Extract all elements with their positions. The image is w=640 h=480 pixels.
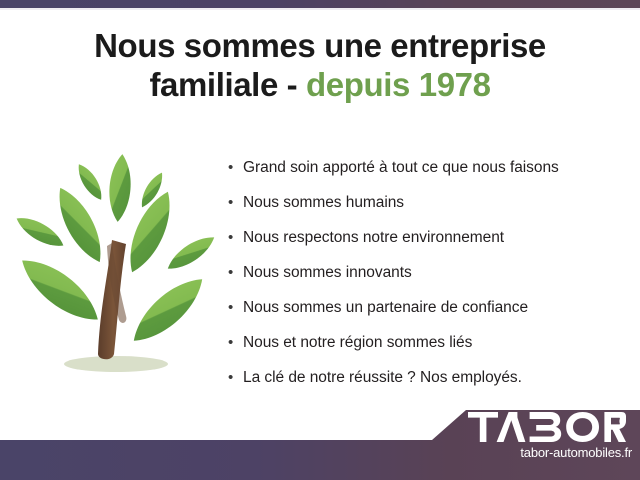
list-item: • Nous sommes innovants [228,255,628,290]
list-item-label: Grand soin apporté à tout ce que nous fa… [243,158,559,177]
list-item-label: La clé de notre réussite ? Nos employés. [243,368,522,387]
bullet-marker-icon: • [228,300,243,315]
value-bullet-list: • Grand soin apporté à tout ce que nous … [228,150,628,395]
headline-line-2-black: familiale - [149,66,306,103]
bullet-marker-icon: • [228,370,243,385]
list-item-label: Nous et notre région sommes liés [243,333,472,352]
bullet-marker-icon: • [228,265,243,280]
bullet-marker-icon: • [228,160,243,175]
brand-logo[interactable]: tabor-automobiles.fr [468,412,634,460]
bullet-marker-icon: • [228,230,243,245]
list-item: • Nous et notre région sommes liés [228,325,628,360]
page-title: Nous sommes une entreprisefamiliale - de… [0,26,640,104]
list-item: • La clé de notre réussite ? Nos employé… [228,360,628,395]
tree-shadow [64,356,168,372]
bullet-marker-icon: • [228,195,243,210]
headline-line-1: Nous sommes une entreprise [94,27,546,64]
top-accent-bar [0,0,640,8]
tabor-wordmark [468,412,626,442]
list-item-label: Nous sommes innovants [243,263,412,282]
stylized-tree-illustration [8,140,228,390]
headline-line-2-green: depuis 1978 [306,66,491,103]
slide-canvas: Nous sommes une entreprisefamiliale - de… [0,0,640,480]
headline-line-2: familiale - depuis 1978 [0,65,640,104]
list-item-label: Nous sommes un partenaire de confiance [243,298,528,317]
list-item: • Nous respectons notre environnement [228,220,628,255]
brand-url[interactable]: tabor-automobiles.fr [468,445,634,460]
bullet-marker-icon: • [228,335,243,350]
list-item: • Nous sommes un partenaire de confiance [228,290,628,325]
list-item-label: Nous respectons notre environnement [243,228,504,247]
list-item: • Grand soin apporté à tout ce que nous … [228,150,628,185]
list-item: • Nous sommes humains [228,185,628,220]
top-accent-hairline [0,8,640,10]
list-item-label: Nous sommes humains [243,193,404,212]
